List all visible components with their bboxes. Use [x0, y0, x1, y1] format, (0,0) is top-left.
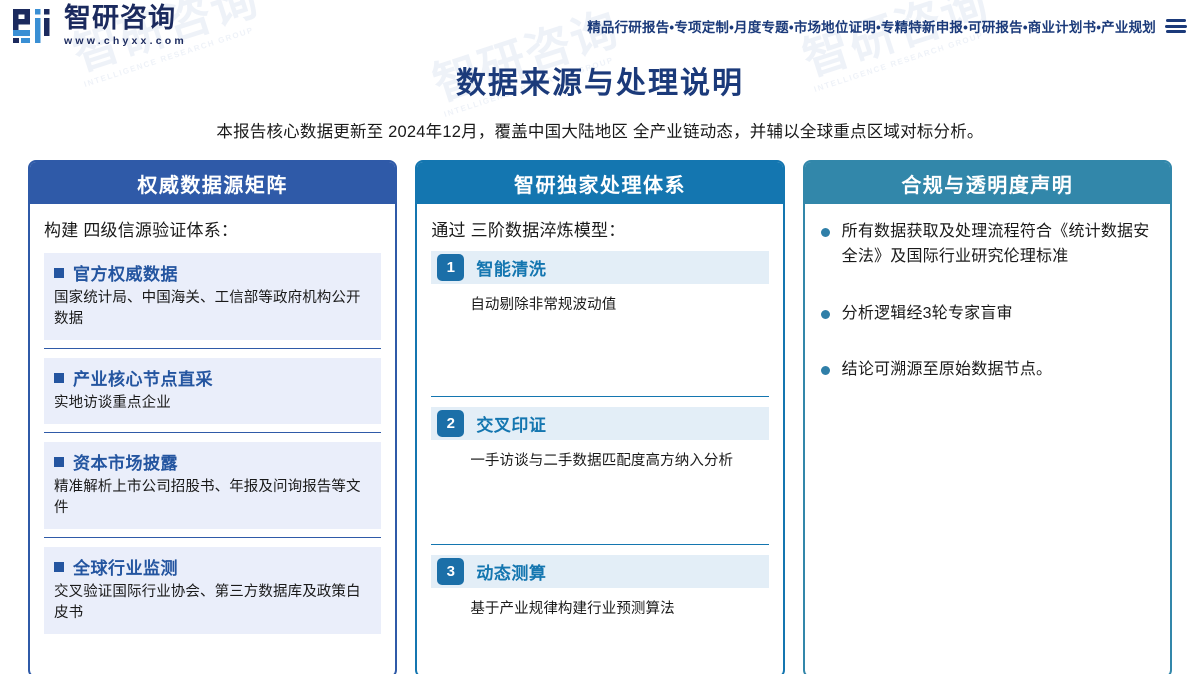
step-desc: 基于产业规律构建行业预测算法: [470, 599, 768, 620]
list-item: 所有数据获取及处理流程符合《统计数据安全法》及国际行业研究伦理标准: [821, 220, 1154, 270]
bullet-text: 分析逻辑经3轮专家盲审: [842, 302, 1013, 327]
card-title-compliance: 合规与透明度声明: [805, 162, 1170, 204]
source-name: 产业核心节点直采: [73, 365, 213, 390]
step-title: 动态测算: [476, 559, 546, 584]
list-item: 1 智能清洗 自动剔除非常规波动值: [431, 251, 768, 396]
square-bullet-icon: [54, 562, 64, 572]
bullet-text: 所有数据获取及处理流程符合《统计数据安全法》及国际行业研究伦理标准: [842, 220, 1154, 270]
card-title-processing-system: 智研独家处理体系: [417, 162, 782, 204]
brand-website: www.chyxx.com: [64, 35, 187, 47]
brand-logo-group[interactable]: 智研咨询 www.chyxx.com: [12, 5, 187, 47]
card1-lead-text: 构建 四级信源验证体系：: [44, 216, 381, 241]
step-desc: 自动剔除非常规波动值: [470, 295, 768, 316]
cards-container: 权威数据源矩阵 构建 四级信源验证体系： 官方权威数据 国家统计局、中国海关、工…: [0, 142, 1200, 674]
source-desc: 实地访谈重点企业: [54, 393, 371, 414]
page-root: 智研咨询INTELLIGENCE RESEARCH GROUP 智研咨询INTE…: [0, 0, 1200, 674]
card-title-data-sources: 权威数据源矩阵: [30, 162, 395, 204]
square-bullet-icon: [54, 268, 64, 278]
card-compliance-statement: 合规与透明度声明 所有数据获取及处理流程符合《统计数据安全法》及国际行业研究伦理…: [803, 160, 1172, 674]
chyxx-logo-icon: [12, 8, 56, 44]
card2-lead-text: 通过 三阶数据淬炼模型：: [431, 216, 768, 241]
source-name: 全球行业监测: [73, 554, 178, 579]
list-item: 3 动态测算 基于产业规律构建行业预测算法: [431, 544, 768, 664]
hamburger-menu-icon[interactable]: [1165, 19, 1186, 33]
brand-name: 智研咨询: [64, 5, 187, 33]
source-desc: 国家统计局、中国海关、工信部等政府机构公开数据: [54, 288, 371, 330]
square-bullet-icon: [54, 457, 64, 467]
bullet-text: 结论可溯源至原始数据节点。: [842, 358, 1053, 383]
list-item: 结论可溯源至原始数据节点。: [821, 358, 1154, 383]
top-header-bar: 智研咨询 www.chyxx.com 精品行研报告•专项定制•月度专题•市场地位…: [0, 0, 1200, 52]
source-name: 资本市场披露: [73, 449, 178, 474]
list-item: 官方权威数据 国家统计局、中国海关、工信部等政府机构公开数据: [44, 251, 381, 348]
page-title: 数据来源与处理说明: [0, 58, 1200, 102]
page-subtitle: 本报告核心数据更新至 2024年12月，覆盖中国大陆地区 全产业链动态，并辅以全…: [0, 118, 1200, 142]
list-item: 资本市场披露 精准解析上市公司招股书、年报及问询报告等文件: [44, 432, 381, 537]
source-name: 官方权威数据: [73, 260, 178, 285]
square-bullet-icon: [54, 373, 64, 383]
card-processing-system: 智研独家处理体系 通过 三阶数据淬炼模型： 1 智能清洗 自动剔除非常规波动值 …: [415, 160, 784, 674]
list-item: 全球行业监测 交叉验证国际行业协会、第三方数据库及政策白皮书: [44, 537, 381, 642]
step-desc: 一手访谈与二手数据匹配度高方纳入分析: [470, 451, 768, 472]
step-number-badge: 3: [437, 558, 464, 585]
source-desc: 精准解析上市公司招股书、年报及问询报告等文件: [54, 477, 371, 519]
list-item: 2 交叉印证 一手访谈与二手数据匹配度高方纳入分析: [431, 396, 768, 544]
round-bullet-icon: [821, 310, 830, 319]
round-bullet-icon: [821, 366, 830, 375]
list-item: 产业核心节点直采 实地访谈重点企业: [44, 348, 381, 432]
source-desc: 交叉验证国际行业协会、第三方数据库及政策白皮书: [54, 582, 371, 624]
list-item: 分析逻辑经3轮专家盲审: [821, 302, 1154, 327]
card-data-sources: 权威数据源矩阵 构建 四级信源验证体系： 官方权威数据 国家统计局、中国海关、工…: [28, 160, 397, 674]
round-bullet-icon: [821, 228, 830, 237]
step-number-badge: 1: [437, 254, 464, 281]
header-tagline: 精品行研报告•专项定制•月度专题•市场地位证明•专精特新申报•可研报告•商业计划…: [587, 16, 1156, 36]
step-title: 交叉印证: [476, 411, 546, 436]
step-number-badge: 2: [437, 410, 464, 437]
step-title: 智能清洗: [476, 255, 546, 280]
